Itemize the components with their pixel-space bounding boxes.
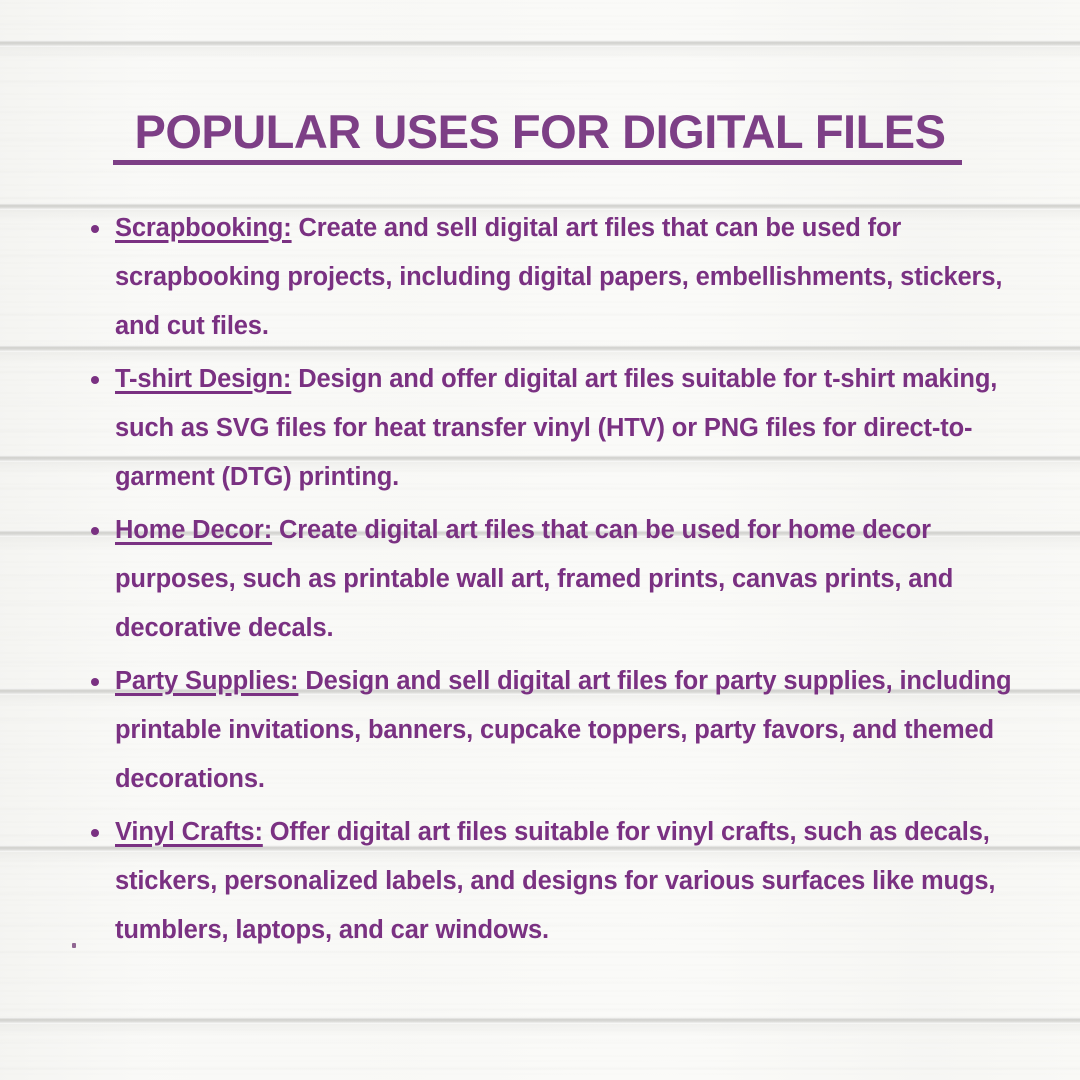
list-item: Vinyl Crafts: Offer digital art files su… [76, 808, 1026, 955]
list-item-label: T-shirt Design: [115, 365, 291, 393]
list-item: Home Decor: Create digital art files tha… [76, 506, 1026, 653]
list-item-label: Vinyl Crafts: [115, 818, 263, 846]
list-item-label: Party Supplies: [115, 667, 298, 695]
list-item-label: Scrapbooking: [115, 214, 292, 242]
bullet-dot-icon [91, 225, 99, 233]
bullet-dot-icon [91, 527, 99, 535]
bullet-dot-icon [91, 829, 99, 837]
poster-canvas: POPULAR USES FOR DIGITAL FILES Scrapbook… [0, 0, 1080, 1080]
poster-content: POPULAR USES FOR DIGITAL FILES Scrapbook… [0, 0, 1080, 1080]
list-item: T-shirt Design: Design and offer digital… [76, 355, 1026, 502]
uses-list: Scrapbooking: Create and sell digital ar… [76, 204, 1026, 955]
list-item: Party Supplies: Design and sell digital … [76, 657, 1026, 804]
list-item-label: Home Decor: [115, 516, 272, 544]
page-title-underline [113, 160, 962, 165]
list-item: Scrapbooking: Create and sell digital ar… [76, 204, 1026, 351]
bullet-dot-icon [91, 376, 99, 384]
page-title: POPULAR USES FOR DIGITAL FILES [60, 104, 1020, 160]
bullet-dot-icon [91, 678, 99, 686]
